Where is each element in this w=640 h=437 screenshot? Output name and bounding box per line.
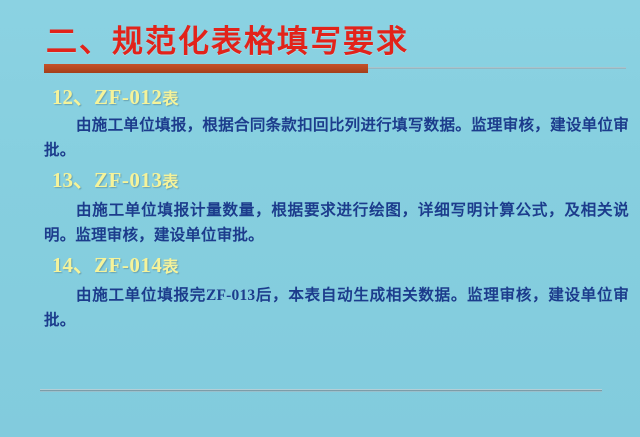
section-body-13: 由施工单位填报计量数量，根据要求进行绘图，详细写明计算公式，及相关说明。监理审核… (44, 198, 629, 248)
section-suffix-12: 表 (162, 91, 178, 108)
section-heading-13: 13、ZF-013表 (52, 168, 178, 195)
slide-title: 二、规范化表格填写要求 (46, 22, 409, 62)
section-body-12: 由施工单位填报，根据合同条款扣回比列进行填写数据。监理审核，建设单位审批。 (44, 113, 629, 163)
section-suffix-14: 表 (162, 259, 178, 276)
title-accent-bar (44, 64, 368, 73)
section-number-12: 12、 (52, 85, 94, 109)
section-code-13: ZF-013 (94, 168, 162, 192)
section-number-14: 14、 (52, 253, 94, 277)
section-heading-14: 14、ZF-014表 (52, 253, 178, 280)
section-number-13: 13、 (52, 168, 94, 192)
section-code-14: ZF-014 (94, 253, 162, 277)
section-code-12: ZF-012 (94, 85, 162, 109)
presentation-slide: 二、规范化表格填写要求 12、ZF-012表 由施工单位填报，根据合同条款扣回比… (0, 0, 640, 437)
bottom-divider-rule (40, 389, 602, 392)
section-body-14: 由施工单位填报完ZF-013后，本表自动生成相关数据。监理审核，建设单位审批。 (44, 283, 629, 333)
section-suffix-13: 表 (162, 174, 178, 191)
section-heading-12: 12、ZF-012表 (52, 85, 178, 112)
